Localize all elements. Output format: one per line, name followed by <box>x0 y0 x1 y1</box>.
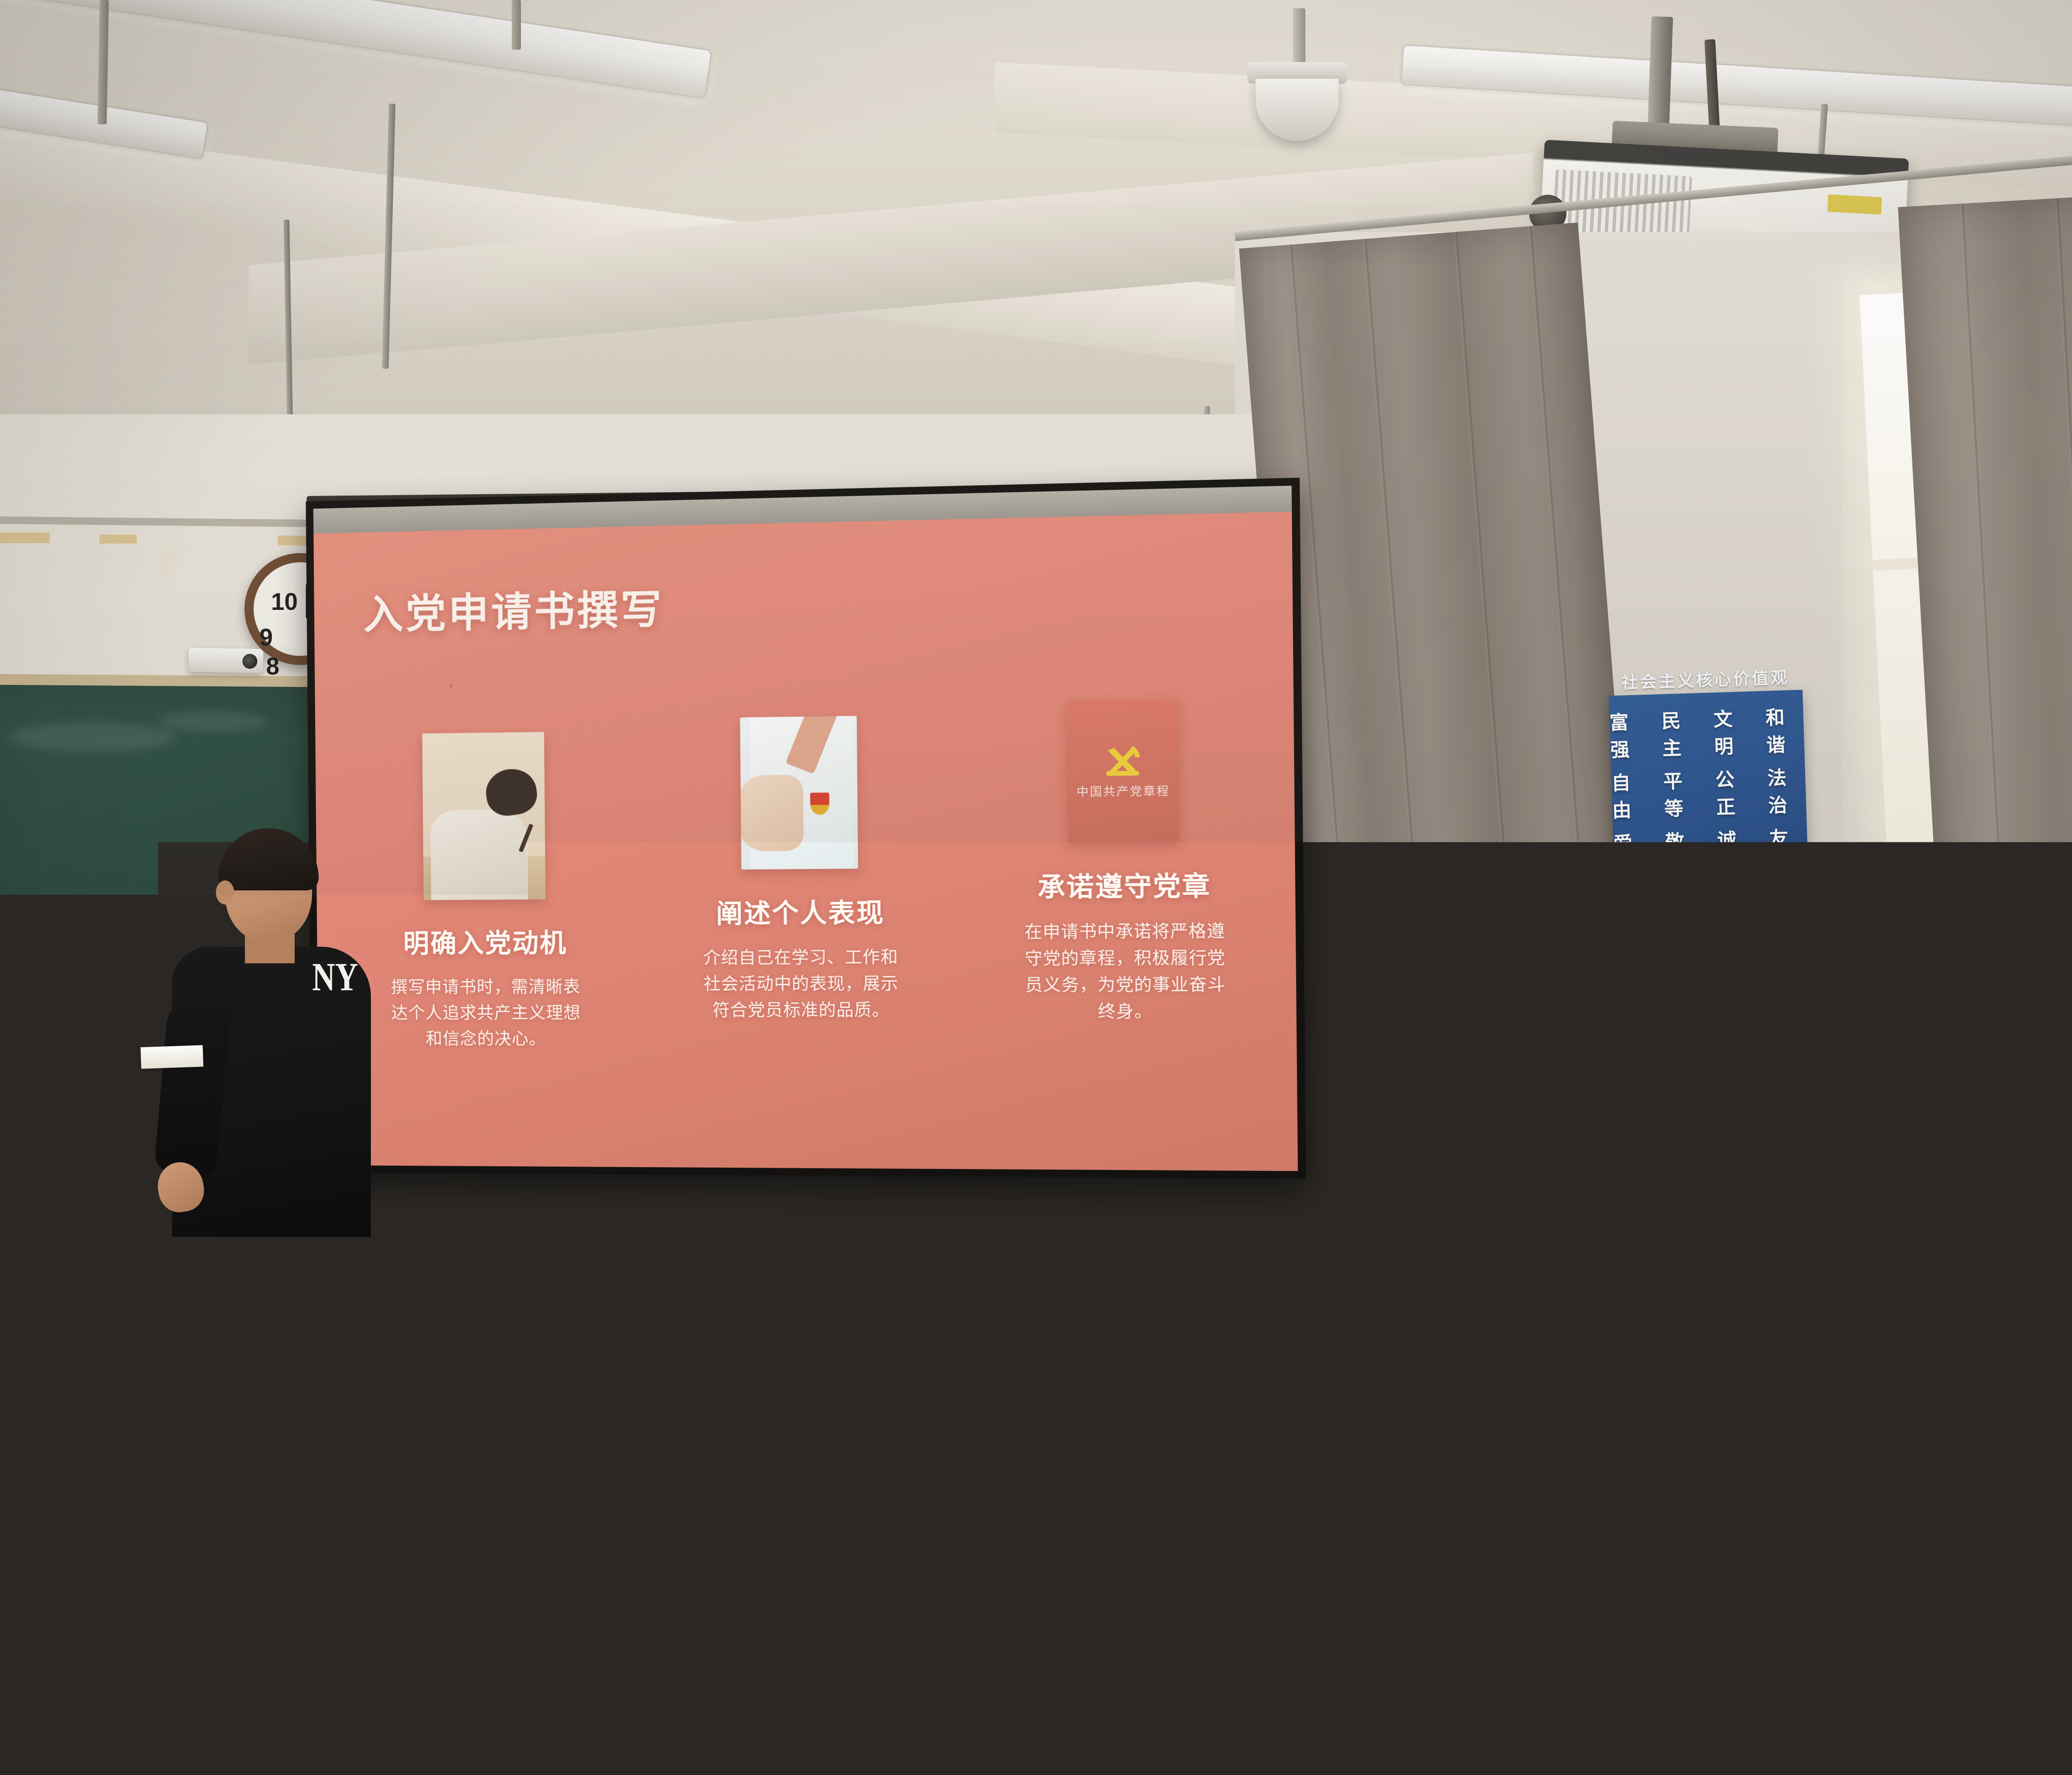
slide-title: 入党申请书撰写 <box>363 576 664 640</box>
clock-numeral: 10 <box>271 588 298 616</box>
person-head <box>1343 1119 1430 1212</box>
hair-bun <box>1786 1135 1823 1231</box>
slide-column: 阐述个人表现 介绍自己在学习、工作和社会活动中的表现，展示符合党员标准的品质。 <box>656 715 946 1023</box>
plaque-row: 富强 民主 文明 和谐 <box>1609 702 1805 763</box>
classroom-photo: 9 10 11 8 社会主义核心价值观 富强 民主 文明 和谐 <box>0 0 2072 1775</box>
glasses <box>1653 1144 1707 1168</box>
light-hanger-rod <box>512 0 521 50</box>
slide-column-heading: 阐述个人表现 <box>716 891 885 930</box>
student-writing-photo <box>422 732 546 900</box>
book-cover-text: 中国共产党章程 <box>1067 782 1179 800</box>
ledge-webcam <box>189 648 264 673</box>
wall-tape-mark <box>99 534 137 544</box>
plaque-value: 爱国 <box>1613 827 1653 883</box>
projector-warning-label <box>1828 194 1882 215</box>
sign-line-2: 无管线 <box>1583 970 1614 982</box>
plaque-value: 和谐 <box>1765 702 1805 758</box>
audience-seating: MLB NY MLB <box>0 994 2072 1775</box>
person-head <box>0 1177 116 1313</box>
plaque-row: 自由 平等 公正 法治 <box>1611 762 1806 823</box>
party-badge-photo <box>740 716 858 870</box>
slide-column-heading: 承诺遵守党章 <box>1037 864 1211 904</box>
person-shoulders <box>0 1711 244 1775</box>
plaque-value: 平等 <box>1663 766 1703 822</box>
plaque-value: 民主 <box>1661 705 1701 761</box>
person-head <box>1877 1202 1997 1332</box>
person-head <box>1467 1508 1711 1775</box>
wall-tape-mark <box>0 532 50 543</box>
party-constitution-book: 中国共产党章程 <box>1067 699 1179 842</box>
sign-line-1: 勿踩踏 <box>1583 958 1613 971</box>
mlb-patch-icon: MLB <box>903 1239 936 1260</box>
plaque-value: 自由 <box>1611 767 1651 823</box>
slide-column-heading: 明确入党动机 <box>403 922 567 960</box>
chalk-smudge <box>159 711 266 732</box>
slide-column: 中国共产党章程 承诺遵守党章 在申请书中承诺将严格遵守党的章程，积极履行党员义务… <box>975 698 1274 1025</box>
plaque-value: 公正 <box>1715 764 1755 820</box>
presenter-hair <box>218 828 319 890</box>
mlb-patch-icon: MLB <box>572 1276 601 1294</box>
slide-speck: , <box>449 672 458 683</box>
person-head <box>1968 1077 2068 1185</box>
presenter-ear <box>216 880 234 904</box>
person-head <box>1653 1276 1832 1471</box>
ny-logo-icon: NY <box>511 1313 543 1347</box>
person-head <box>1135 1226 1301 1409</box>
hammer-sickle-icon <box>1098 738 1147 781</box>
plaque-value: 法治 <box>1767 762 1807 818</box>
plaque-row: 爱国 敬业 诚信 友善 <box>1613 823 1808 884</box>
plaque-value: 文明 <box>1713 704 1753 759</box>
plaque-value: 诚信 <box>1717 825 1757 880</box>
dome-camera-stem <box>1293 8 1305 70</box>
person-head <box>1368 1264 1542 1454</box>
wall-paper-scrap <box>157 549 176 578</box>
chalk-smudge <box>10 722 175 752</box>
plaque-value: 友善 <box>1769 823 1808 879</box>
person-head <box>667 1152 773 1266</box>
core-values-plaque: 社会主义核心价值观 富强 民主 文明 和谐 自由 平等 公正 法治 爱国 敬业 … <box>1609 690 1808 858</box>
clock-numeral: 9 <box>259 624 273 651</box>
stylus-pen[interactable] <box>1607 1065 1671 1093</box>
plaque-value: 富强 <box>1609 707 1649 763</box>
webcam-lens-icon <box>242 654 258 669</box>
plaque-value: 敬业 <box>1665 826 1704 882</box>
clock-numeral: 8 <box>266 653 279 680</box>
